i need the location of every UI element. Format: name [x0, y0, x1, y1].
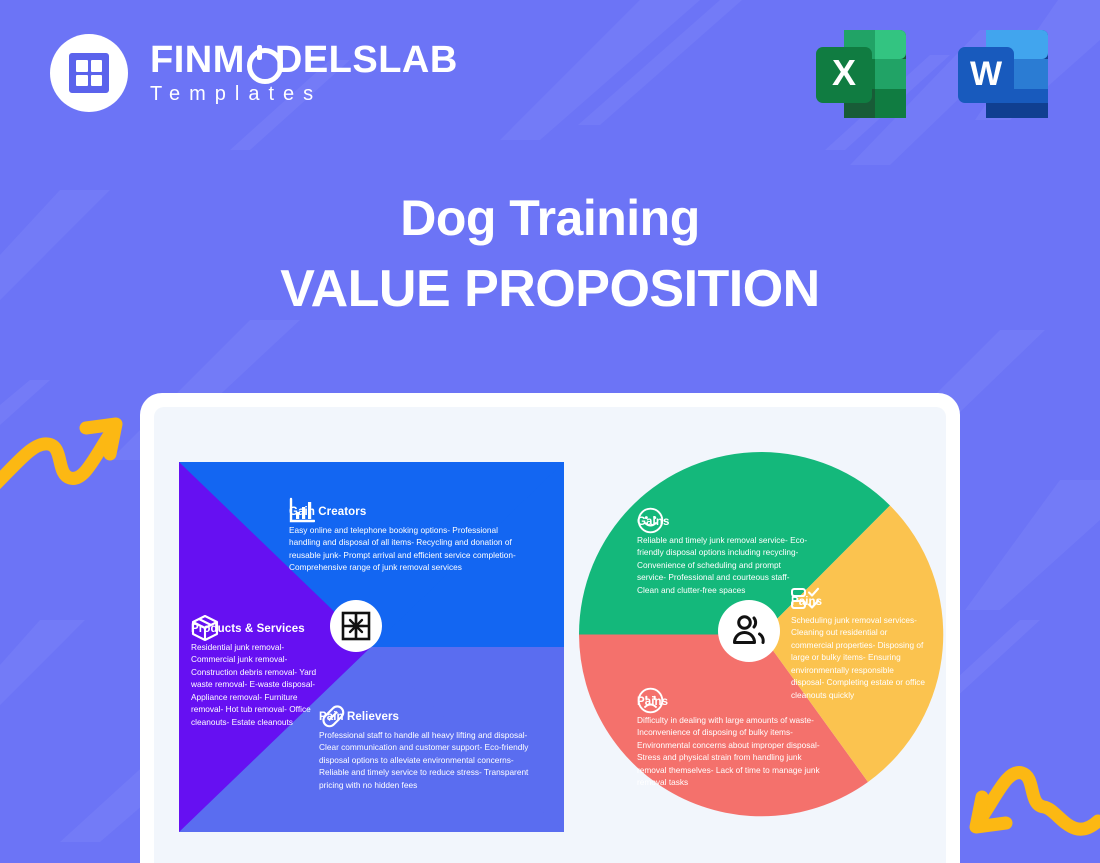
panel-gain-creators: Gain Creators Easy online and telephone …: [289, 497, 527, 574]
power-o-icon: [245, 46, 275, 76]
svg-text:W: W: [970, 55, 1003, 93]
page-title: Dog Training VALUE PROPOSITION: [0, 190, 1100, 319]
panel-body: Difficulty in dealing with large amounts…: [637, 714, 822, 789]
word-icon[interactable]: W: [956, 28, 1050, 120]
brand-name-post: DELSLAB: [275, 39, 458, 81]
users-people-icon: [730, 612, 768, 650]
page-header: FINMDELSLAB Templates X: [0, 0, 1100, 150]
panel-title: Pains: [637, 696, 822, 708]
panel-gains: Gains Reliable and timely junk removal s…: [637, 507, 812, 596]
gift-box-icon: [340, 610, 372, 642]
panel-pains-right: Pains Scheduling junk removal services- …: [791, 587, 926, 701]
grid-logo-icon: [50, 34, 128, 112]
brand-name-pre: FINM: [150, 39, 245, 81]
svg-text:X: X: [832, 52, 856, 93]
brand-logo-text: FINMDELSLAB Templates: [150, 41, 458, 106]
squiggly-arrow-up-right-icon: [0, 408, 130, 503]
panel-pain-relievers: Pain Relievers Professional staff to han…: [319, 702, 534, 791]
panel-pains-bottom: Pains Difficulty in dealing with large a…: [637, 687, 822, 789]
panel-products-services: Products & Services Residential junk rem…: [191, 614, 326, 728]
device-screen: Gain Creators Easy online and telephone …: [154, 407, 946, 863]
brand-name: FINMDELSLAB: [150, 41, 458, 79]
device-frame: Gain Creators Easy online and telephone …: [140, 393, 960, 863]
brand-tagline: Templates: [150, 83, 458, 106]
squiggly-arrow-down-left-icon: [962, 749, 1100, 844]
panel-body: Residential junk removal- Commercial jun…: [191, 641, 326, 728]
title-line-1: Dog Training: [0, 190, 1100, 248]
brand-logo[interactable]: FINMDELSLAB Templates: [50, 34, 458, 112]
slide-canvas: Gain Creators Easy online and telephone …: [154, 407, 946, 863]
value-map-square: Gain Creators Easy online and telephone …: [179, 462, 564, 832]
panel-title: Pain Relievers: [319, 711, 534, 723]
title-line-2: VALUE PROPOSITION: [0, 260, 1100, 320]
hub-gift-box: [330, 600, 382, 652]
hub-users: [718, 600, 780, 662]
panel-body: Reliable and timely junk removal service…: [637, 534, 812, 596]
panel-title: Gain Creators: [289, 506, 527, 518]
panel-body: Professional staff to handle all heavy l…: [319, 729, 534, 791]
panel-body: Easy online and telephone booking option…: [289, 524, 527, 574]
excel-icon[interactable]: X: [814, 28, 908, 120]
office-format-icons: X W: [814, 28, 1050, 120]
